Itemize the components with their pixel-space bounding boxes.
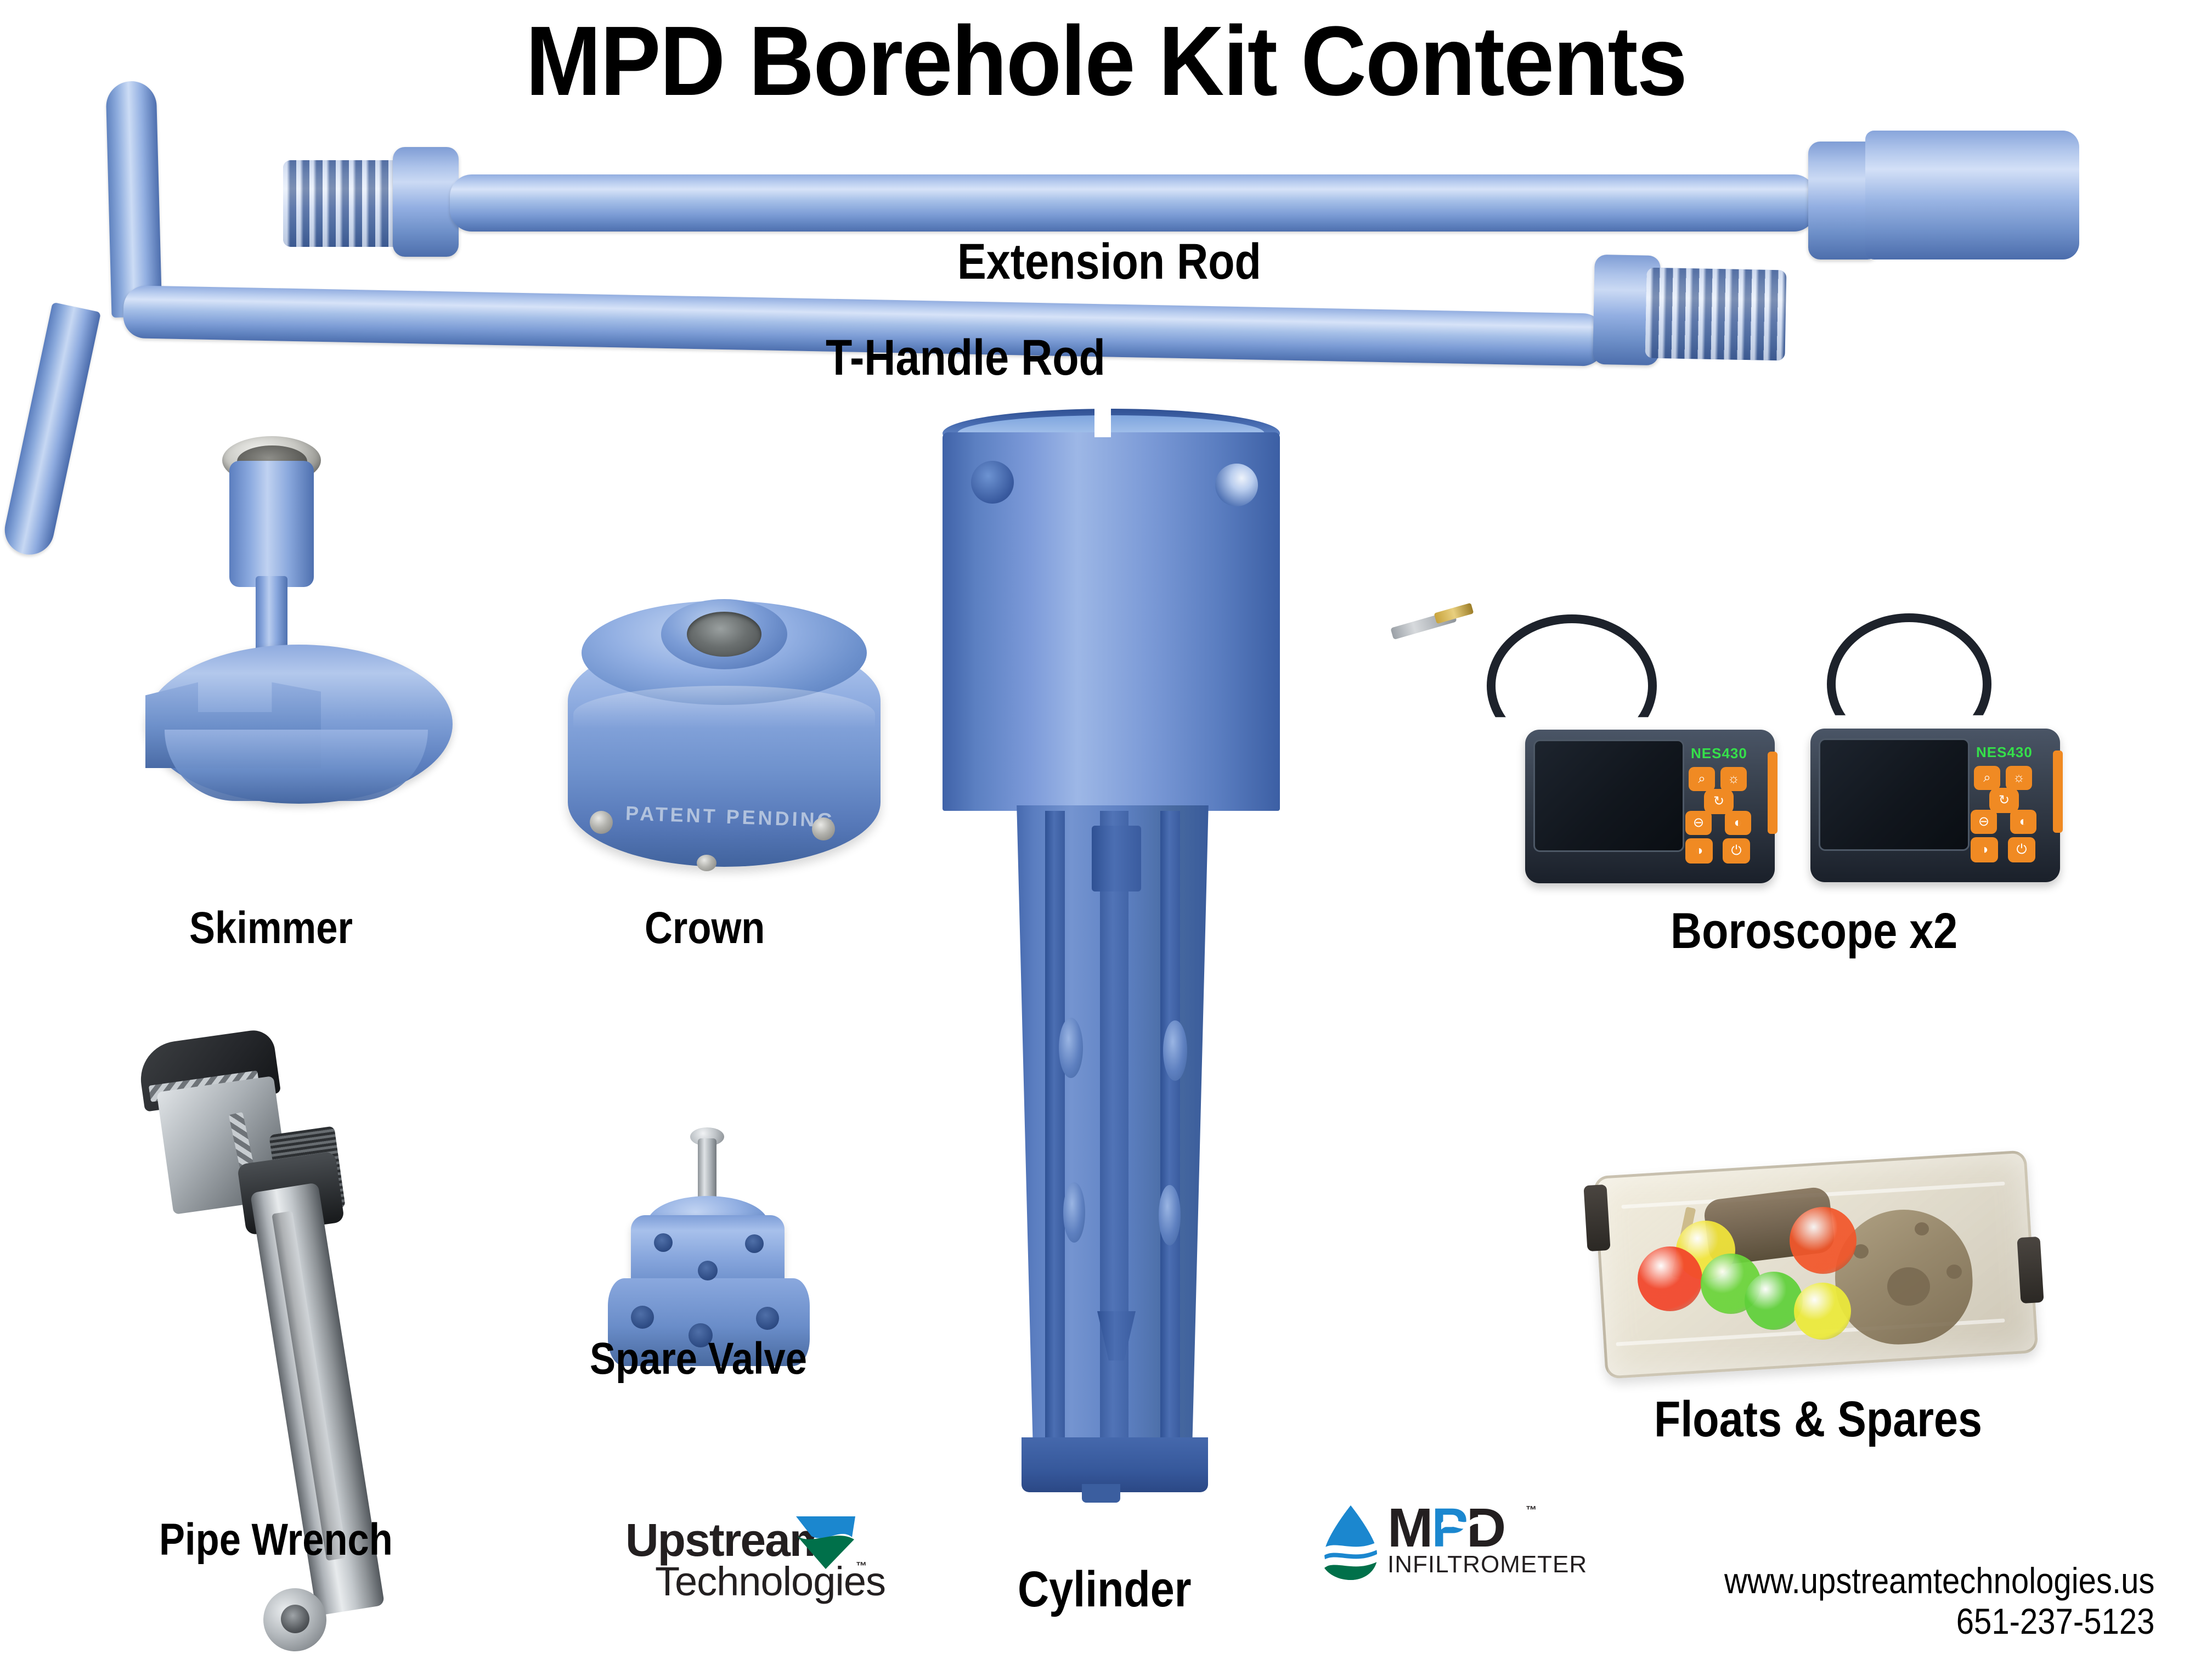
skimmer-socket bbox=[229, 461, 314, 587]
upstream-trademark-symbol: ™ bbox=[856, 1560, 867, 1573]
kit-contents-poster: MPD Borehole Kit Contents Extension Rod … bbox=[0, 0, 2212, 1659]
cylinder-weld-left-lower bbox=[1063, 1182, 1085, 1243]
boroscope-1-screen bbox=[1533, 740, 1684, 852]
floats-box-gasket-center-hole bbox=[1887, 1267, 1930, 1306]
power-glyph: ⏻ bbox=[1731, 844, 1742, 857]
label-extension-rod: Extension Rod bbox=[957, 233, 1261, 291]
boroscope-2-brightness-icon[interactable]: ☼ bbox=[2006, 766, 2032, 790]
boroscope-1-model-label: NES430 bbox=[1691, 745, 1747, 762]
brightness-glyph: ☼ bbox=[2013, 771, 2025, 785]
label-floats-and-spares: Floats & Spares bbox=[1654, 1391, 1982, 1448]
extension-rod-threads-left bbox=[283, 160, 407, 247]
boroscope-1-mirror-icon[interactable]: ◑ bbox=[1685, 838, 1713, 864]
cylinder-bracket-top bbox=[1092, 826, 1141, 891]
label-t-handle-rod: T-Handle Rod bbox=[826, 329, 1105, 387]
t-handle-vertical-lower bbox=[0, 302, 101, 560]
boroscope-2-screen bbox=[1819, 738, 1970, 851]
zoom-in-glyph: ⌕ bbox=[1983, 771, 1990, 785]
extension-rod-collar-left bbox=[393, 147, 459, 257]
brightness-glyph: ☼ bbox=[1728, 772, 1740, 786]
extension-rod-shaft bbox=[450, 174, 1816, 232]
spare-valve-hole-6 bbox=[698, 1261, 718, 1280]
contact-website[interactable]: www.upstreamtechnologies.us bbox=[1724, 1561, 2154, 1601]
float-yellow2 bbox=[1794, 1283, 1851, 1340]
boroscope-1-brightness-icon[interactable]: ☼ bbox=[1720, 767, 1747, 791]
boroscope-1-power-icon[interactable]: ⏻ bbox=[1723, 838, 1750, 864]
contact-phone[interactable]: 651-237-5123 bbox=[1724, 1601, 2154, 1642]
mpd-wave-accent-icon bbox=[1440, 1513, 1487, 1532]
contrast-glyph: ◐ bbox=[2019, 815, 2028, 828]
contact-info: www.upstreamtechnologies.us 651-237-5123 bbox=[1724, 1561, 2154, 1642]
spare-valve-hole-5 bbox=[745, 1234, 764, 1253]
zoom-out-glyph: ⊖ bbox=[1978, 815, 1989, 828]
boroscope-2-power-icon[interactable]: ⏻ bbox=[2008, 837, 2035, 862]
t-handle-vertical-upper bbox=[105, 81, 162, 318]
float-orange bbox=[1790, 1207, 1857, 1274]
rotate-glyph: ↻ bbox=[1999, 794, 2010, 807]
crown-bolt-left bbox=[590, 811, 613, 834]
contrast-glyph: ◐ bbox=[1734, 816, 1742, 830]
pipe-wrench-hang-hole bbox=[281, 1605, 309, 1633]
label-cylinder: Cylinder bbox=[1018, 1561, 1192, 1618]
mpd-letter-m: M bbox=[1387, 1497, 1431, 1559]
label-skimmer: Skimmer bbox=[189, 902, 353, 954]
floats-box-latch-right[interactable] bbox=[2017, 1237, 2044, 1304]
rotate-glyph: ↻ bbox=[1713, 795, 1724, 808]
floats-box-gasket-hole-b bbox=[1946, 1265, 1962, 1279]
zoom-in-glyph: ⌕ bbox=[1698, 772, 1705, 786]
spare-valve-hole-4 bbox=[654, 1233, 673, 1252]
cylinder-fin-right bbox=[1160, 811, 1180, 1453]
skimmer-disc-underside bbox=[165, 730, 428, 801]
power-glyph: ⏻ bbox=[2017, 843, 2027, 856]
cylinder-fin-center bbox=[1100, 811, 1128, 1461]
boroscope-2-mirror-icon[interactable]: ◑ bbox=[1971, 837, 1998, 862]
label-boroscope: Boroscope x2 bbox=[1671, 902, 1957, 960]
floats-box-latch-left[interactable] bbox=[1583, 1184, 1610, 1251]
boroscope-2-contrast-icon[interactable]: ◐ bbox=[2010, 810, 2036, 834]
label-spare-valve: Spare Valve bbox=[590, 1333, 807, 1385]
crown-bolt-right bbox=[812, 817, 835, 840]
cylinder-weld-right-lower bbox=[1159, 1185, 1181, 1245]
cylinder-foot bbox=[1082, 1484, 1120, 1503]
label-pipe-wrench: Pipe Wrench bbox=[159, 1514, 393, 1566]
crown-highlight-band bbox=[573, 686, 875, 757]
cylinder-weld-right-upper bbox=[1163, 1020, 1187, 1081]
boroscope-2-zoom-in-icon[interactable]: ⌕ bbox=[1974, 766, 2000, 790]
spare-valve-hole-1 bbox=[631, 1306, 654, 1329]
cylinder-weld-left-upper bbox=[1059, 1018, 1083, 1078]
upstream-swoosh-icon bbox=[793, 1512, 859, 1572]
mpd-trademark-symbol: ™ bbox=[1526, 1505, 1535, 1515]
cylinder-hole-right bbox=[1215, 464, 1258, 506]
mpd-infiltrometer-logo: MPD ™ INFILTROMETER bbox=[1322, 1503, 1587, 1580]
zoom-out-glyph: ⊖ bbox=[1693, 816, 1704, 830]
page-title: MPD Borehole Kit Contents bbox=[88, 4, 2123, 118]
boroscope-1-zoom-out-icon[interactable]: ⊖ bbox=[1685, 811, 1712, 835]
boroscope-1-zoom-in-icon[interactable]: ⌕ bbox=[1689, 767, 1715, 791]
floats-box-gasket-hole-c bbox=[1915, 1222, 1929, 1235]
spare-valve-hole-3 bbox=[756, 1307, 779, 1330]
upstream-technologies-logo: Upstream Technologies ™ bbox=[625, 1519, 885, 1601]
boroscope-2-model-label: NES430 bbox=[1976, 744, 2033, 761]
boroscope-2-side-grip bbox=[2053, 751, 2063, 833]
mirror-glyph: ◑ bbox=[1980, 843, 1989, 856]
boroscope-2-zoom-out-icon[interactable]: ⊖ bbox=[1971, 810, 1997, 834]
cylinder-fin-left bbox=[1045, 811, 1065, 1458]
extension-rod-end-cap bbox=[1865, 131, 2079, 259]
cylinder-hole-left bbox=[971, 461, 1014, 504]
mpd-water-droplet-icon bbox=[1322, 1503, 1380, 1580]
cylinder-notch-center bbox=[1094, 409, 1111, 437]
label-crown: Crown bbox=[645, 902, 765, 954]
float-green2 bbox=[1745, 1272, 1803, 1330]
boroscope-1-side-grip bbox=[1768, 752, 1778, 834]
crown-bolt-bottom bbox=[697, 855, 716, 871]
float-red bbox=[1638, 1246, 1702, 1311]
crown-threaded-bore bbox=[687, 612, 761, 657]
boroscope-1-contrast-icon[interactable]: ◐ bbox=[1725, 811, 1751, 835]
t-handle-threads bbox=[1645, 268, 1786, 361]
mirror-glyph: ◑ bbox=[1695, 844, 1703, 857]
